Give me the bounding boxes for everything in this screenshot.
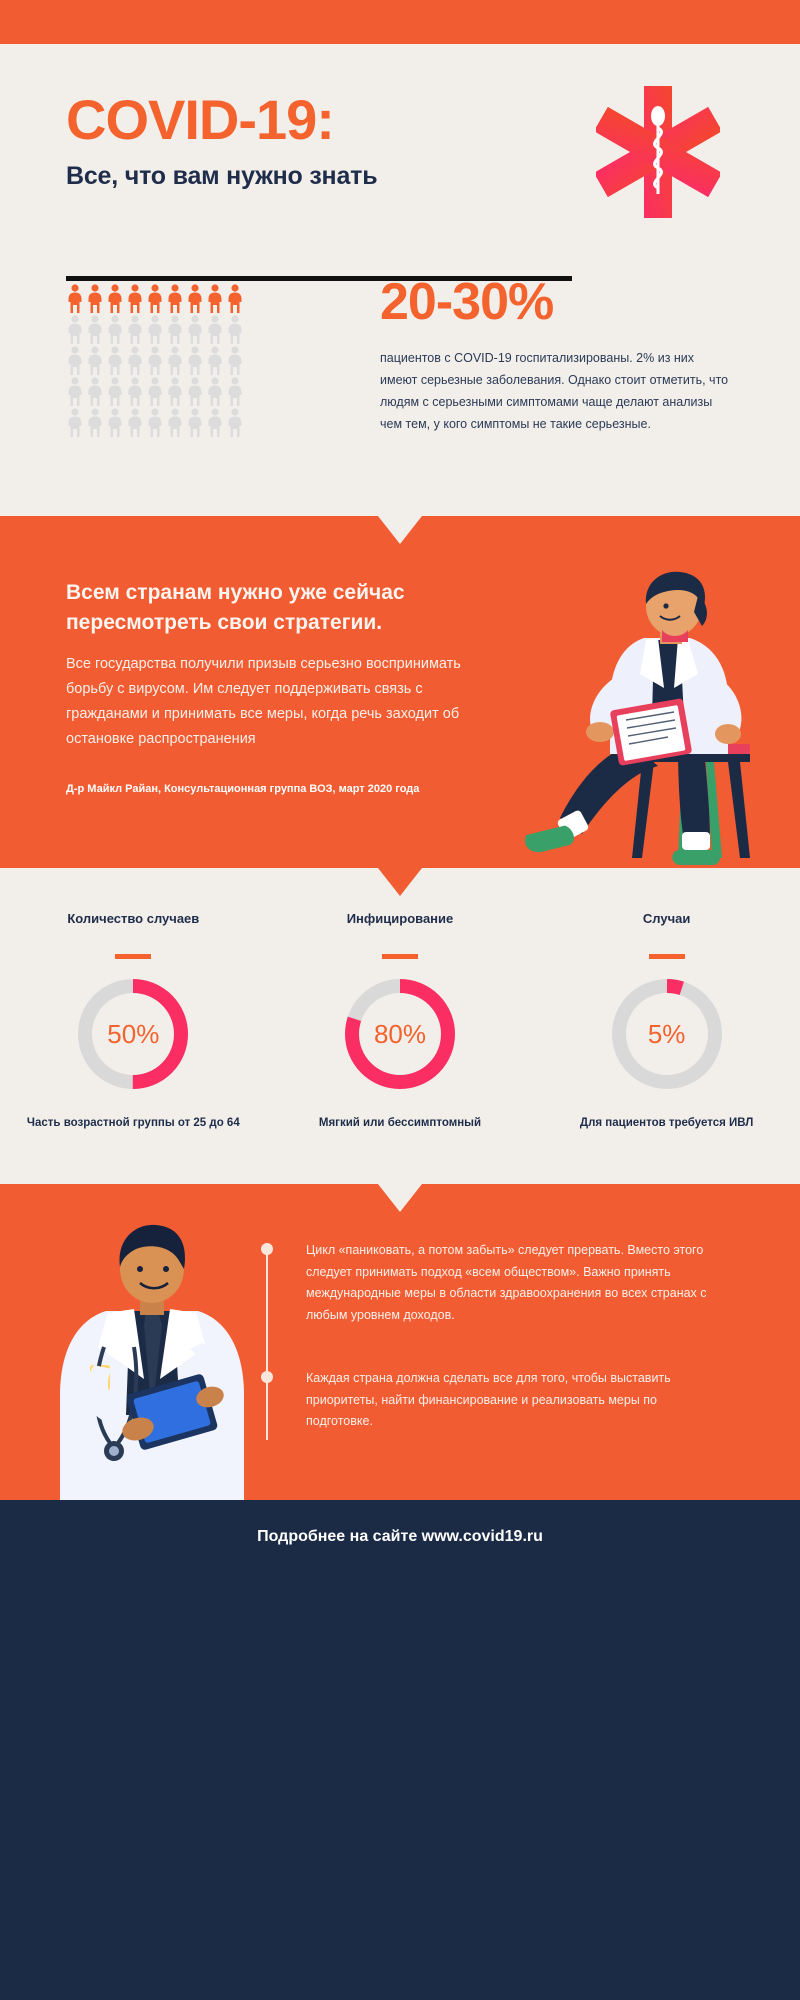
person-icon — [106, 284, 124, 314]
top-accent-bar — [0, 0, 800, 44]
bullet-list: Цикл «паниковать, а потом забыть» следуе… — [306, 1240, 726, 1475]
donut-caption: Для пациентов требуется ИВЛ — [580, 1115, 753, 1132]
hospitalization-description: пациентов с COVID-19 госпитализированы. … — [380, 348, 730, 436]
bullet-item: Цикл «паниковать, а потом забыть» следуе… — [306, 1240, 726, 1326]
person-icon — [146, 377, 164, 407]
donut-charts-section: Количество случаев 50% Часть возрастной … — [0, 868, 800, 1184]
person-icon — [106, 408, 124, 438]
section-notch — [378, 516, 422, 544]
donut-label: Инфицирование — [347, 910, 454, 946]
person-icon — [186, 346, 204, 376]
person-icon — [166, 284, 184, 314]
person-icon — [66, 346, 84, 376]
person-icon — [166, 346, 184, 376]
quote-body-text: Все государства получили призыв серьезно… — [66, 652, 466, 752]
infographic-page: COVID-19: Все, что вам нужно знать — [0, 0, 800, 2000]
person-icon — [226, 346, 244, 376]
person-icon — [206, 346, 224, 376]
donut-card-2: Случаи 5% Для пациентов требуется ИВЛ — [559, 910, 774, 1132]
person-icon — [186, 408, 204, 438]
bullet-connector-line — [266, 1248, 268, 1440]
quote-heading: Всем странам нужно уже сейчас пересмотре… — [66, 578, 486, 638]
person-icon — [66, 408, 84, 438]
person-icon — [86, 346, 104, 376]
person-icon — [226, 284, 244, 314]
donut-value: 5% — [608, 975, 726, 1093]
stat-text-group: 20-30% пациентов с COVID-19 госпитализир… — [380, 276, 730, 436]
donut-ring: 50% — [74, 975, 192, 1093]
donut-accent-dash — [115, 954, 151, 959]
person-icon — [86, 315, 104, 345]
person-icon — [126, 284, 144, 314]
person-icon — [206, 284, 224, 314]
hospitalization-stats-section: 20-30% пациентов с COVID-19 госпитализир… — [0, 276, 800, 516]
person-icon — [146, 315, 164, 345]
title-group: COVID-19: Все, что вам нужно знать — [66, 92, 377, 191]
person-icon — [226, 315, 244, 345]
doctor-sitting-illustration — [482, 568, 772, 868]
donut-card-1: Инфицирование 80% Мягкий или бессимптомн… — [292, 910, 507, 1132]
footer-section: Подробнее на сайте www.covid19.ru — [0, 1500, 800, 2000]
person-icon — [226, 408, 244, 438]
person-icon — [186, 377, 204, 407]
medical-star-icon — [596, 86, 720, 218]
doctor-with-tablet-illustration — [34, 1215, 269, 1500]
header-section: COVID-19: Все, что вам нужно знать — [0, 44, 800, 258]
page-title: COVID-19: — [66, 92, 377, 148]
recommendations-section: Цикл «паниковать, а потом забыть» следуе… — [0, 1184, 800, 1500]
donut-ring: 80% — [341, 975, 459, 1093]
person-icon — [186, 315, 204, 345]
person-icon — [206, 408, 224, 438]
person-icon — [166, 315, 184, 345]
hospitalization-percentage: 20-30% — [380, 276, 730, 328]
person-icon — [106, 377, 124, 407]
bullet-dot-icon — [261, 1243, 273, 1255]
footer-website-text: Подробнее на сайте www.covid19.ru — [0, 1528, 800, 1546]
bullet-item: Каждая страна должна сделать все для тог… — [306, 1368, 726, 1433]
people-pictogram — [66, 284, 246, 439]
person-icon — [206, 377, 224, 407]
person-icon — [86, 408, 104, 438]
person-icon — [126, 315, 144, 345]
donut-label: Количество случаев — [67, 910, 199, 946]
donut-row: Количество случаев 50% Часть возрастной … — [0, 910, 800, 1132]
person-icon — [86, 377, 104, 407]
person-icon — [166, 408, 184, 438]
donut-caption: Часть возрастной группы от 25 до 64 — [27, 1115, 240, 1132]
person-icon — [86, 284, 104, 314]
person-icon — [226, 377, 244, 407]
bullet-text: Цикл «паниковать, а потом забыть» следуе… — [306, 1240, 726, 1326]
person-icon — [66, 315, 84, 345]
person-icon — [206, 315, 224, 345]
person-icon — [126, 408, 144, 438]
person-icon — [186, 284, 204, 314]
donut-accent-dash — [649, 954, 685, 959]
donut-label: Случаи — [643, 910, 690, 946]
person-icon — [126, 377, 144, 407]
donut-caption: Мягкий или бессимптомный — [319, 1115, 481, 1132]
section-notch — [378, 1184, 422, 1212]
who-quote-section: Всем странам нужно уже сейчас пересмотре… — [0, 516, 800, 868]
person-icon — [66, 377, 84, 407]
bullet-dot-icon — [261, 1371, 273, 1383]
person-icon — [166, 377, 184, 407]
page-subtitle: Все, что вам нужно знать — [66, 162, 377, 191]
quote-attribution: Д-р Майкл Райан, Консультационная группа… — [66, 781, 466, 798]
donut-value: 50% — [74, 975, 192, 1093]
person-icon — [106, 315, 124, 345]
person-icon — [146, 346, 164, 376]
person-icon — [126, 346, 144, 376]
person-icon — [146, 284, 164, 314]
donut-card-0: Количество случаев 50% Часть возрастной … — [26, 910, 241, 1132]
person-icon — [106, 346, 124, 376]
person-icon — [66, 284, 84, 314]
section-notch — [378, 868, 422, 896]
donut-value: 80% — [341, 975, 459, 1093]
donut-ring: 5% — [608, 975, 726, 1093]
bullet-text: Каждая страна должна сделать все для тог… — [306, 1368, 726, 1433]
donut-accent-dash — [382, 954, 418, 959]
person-icon — [146, 408, 164, 438]
